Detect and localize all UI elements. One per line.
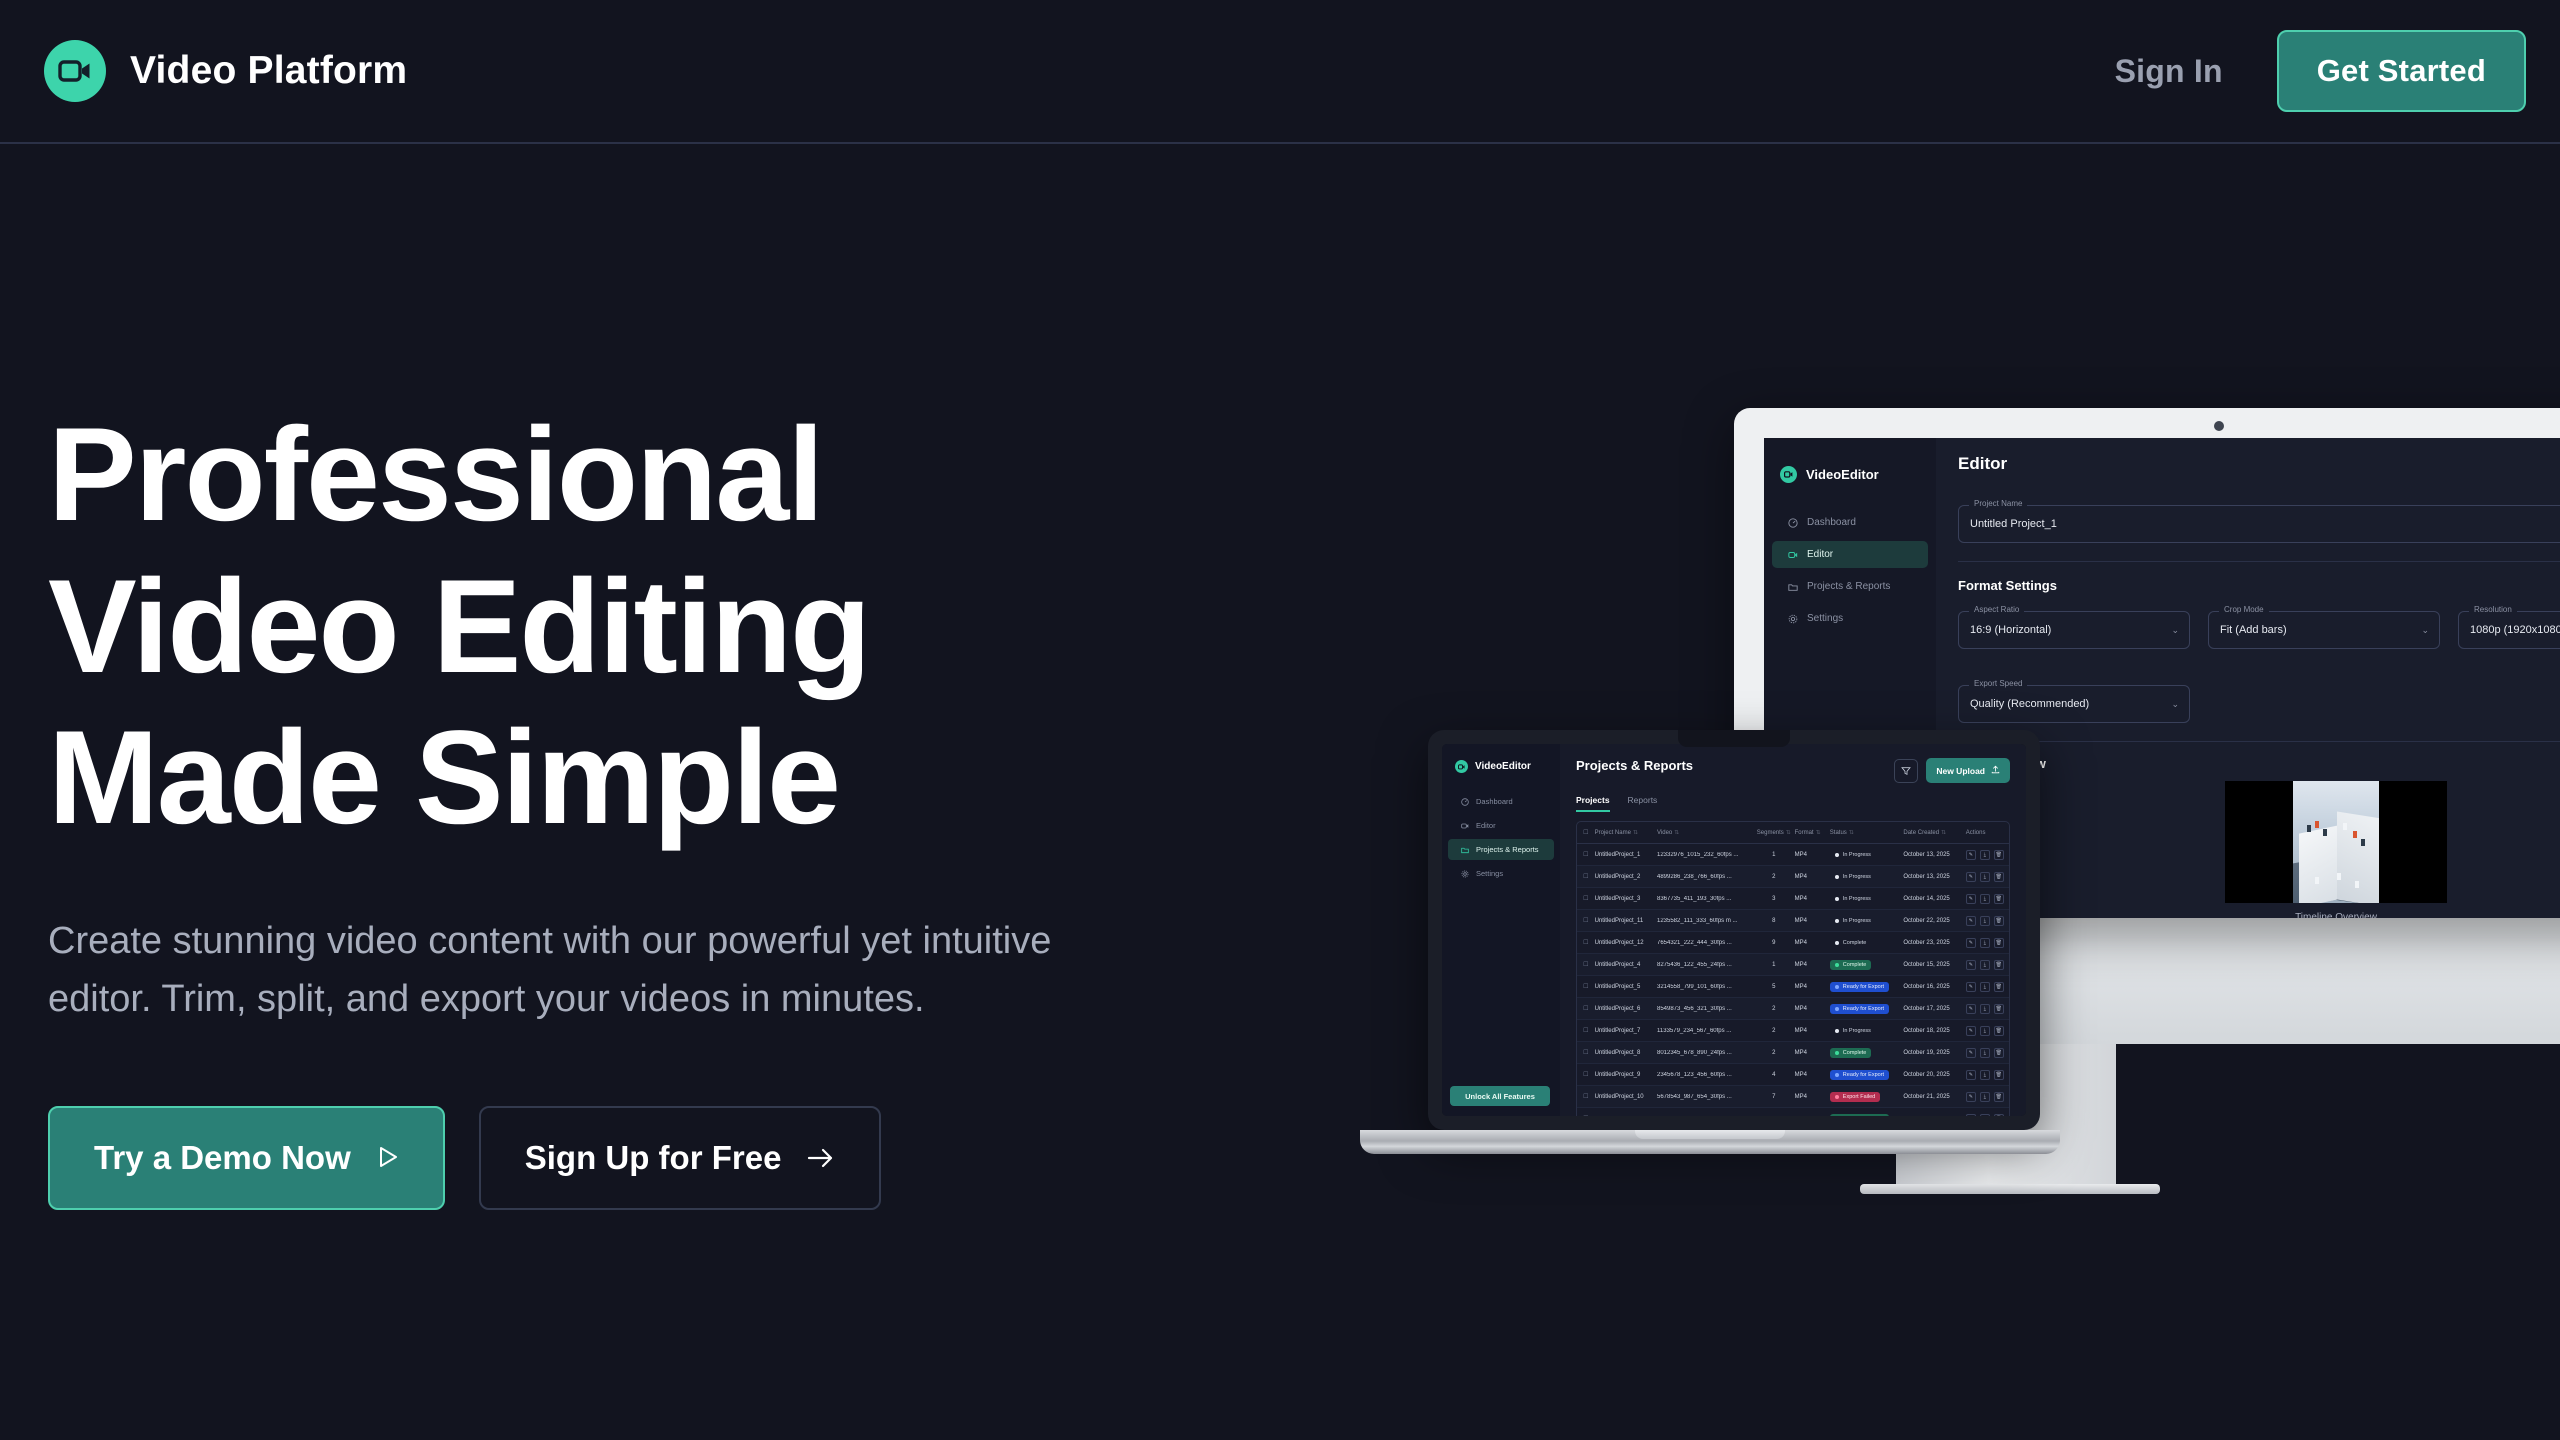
chevron-down-icon: ⌄ xyxy=(2171,699,2179,710)
cell-date-created: October 21, 2025 xyxy=(1903,1094,1965,1100)
brand-name: Video Platform xyxy=(130,49,407,93)
laptop-app-logo[interactable]: VideoEditor xyxy=(1442,760,1560,773)
cell-segments: 10 xyxy=(1753,1116,1795,1117)
delete-icon[interactable]: 🗑 xyxy=(1994,850,2004,860)
project-name-label: Project Name xyxy=(1969,499,2027,508)
sidebar-item-dashboard[interactable]: Dashboard xyxy=(1448,791,1554,812)
cell-actions: ✎⤓🗑 xyxy=(1966,982,2009,992)
cell-segments: 9 xyxy=(1753,940,1795,946)
crop-mode-select[interactable]: Crop Mode Fit (Add bars) ⌄ xyxy=(2208,611,2440,649)
cell-segments: 2 xyxy=(1753,874,1795,880)
edit-icon[interactable]: ✎ xyxy=(1966,1114,1976,1117)
cell-actions: ✎⤓🗑 xyxy=(1966,916,2009,926)
cell-date-created: October 14, 2025 xyxy=(1903,896,1965,902)
sidebar-label: Dashboard xyxy=(1476,797,1513,806)
cell-format: MP4 xyxy=(1795,940,1830,946)
page-title: Professional Video Editing Made Simple xyxy=(48,400,1148,855)
edit-icon[interactable]: ✎ xyxy=(1966,1048,1976,1058)
table-row[interactable]: ☐UntitledProject_38367735_411_193_30fps … xyxy=(1577,888,2009,910)
sidebar-item-projects-reports[interactable]: Projects & Reports xyxy=(1772,573,1928,600)
sort-icon: ⇅ xyxy=(1849,830,1854,836)
cell-video: 2345678_123_456_60fps ... xyxy=(1657,1072,1753,1078)
table-row[interactable]: ☐UntitledProject_53214558_799_101_60fps … xyxy=(1577,976,2009,998)
edit-icon[interactable]: ✎ xyxy=(1966,872,1976,882)
delete-icon[interactable]: 🗑 xyxy=(1994,872,2004,882)
column-date-created[interactable]: Date Created⇅ xyxy=(1903,829,1965,836)
delete-icon[interactable]: 🗑 xyxy=(1994,916,2004,926)
sort-icon: ⇅ xyxy=(1633,830,1638,836)
cell-date-created: October 20, 2025 xyxy=(1903,1072,1965,1078)
cell-format: MP4 xyxy=(1795,896,1830,902)
video-icon xyxy=(1461,822,1469,830)
status-badge: Ready for Export xyxy=(1830,1114,1904,1117)
sign-in-link[interactable]: Sign In xyxy=(2115,53,2223,90)
cell-project-name: UntitledProject_4 xyxy=(1595,962,1657,968)
row-checkbox[interactable]: ☐ xyxy=(1577,851,1595,858)
export-icon[interactable]: ⤓ xyxy=(1980,982,1990,992)
cell-project-name: UntitledProject_11 xyxy=(1595,918,1657,924)
arrow-right-icon xyxy=(807,1139,835,1177)
crop-mode-label: Crop Mode xyxy=(2219,605,2269,614)
cell-segments: 1 xyxy=(1753,852,1795,858)
export-icon[interactable]: ⤓ xyxy=(1980,960,1990,970)
row-checkbox[interactable]: ☐ xyxy=(1577,1115,1595,1116)
laptop-base-notch xyxy=(1635,1130,1785,1139)
delete-icon[interactable]: 🗑 xyxy=(1994,1004,2004,1014)
status-badge: Export Failed xyxy=(1830,1092,1904,1102)
filter-icon[interactable] xyxy=(1894,759,1918,783)
table-row[interactable]: ☐UntitledProject_92345678_123_456_60fps … xyxy=(1577,1064,2009,1086)
edit-icon[interactable]: ✎ xyxy=(1966,1026,1976,1036)
monitor-app-name: VideoEditor xyxy=(1806,467,1879,482)
row-checkbox[interactable]: ☐ xyxy=(1577,1027,1595,1034)
edit-icon[interactable]: ✎ xyxy=(1966,916,1976,926)
device-mockups: VideoEditor Dashboard xyxy=(1360,400,2560,1200)
upload-icon xyxy=(1991,765,2000,776)
cell-video: 8367735_411_193_30fps ... xyxy=(1657,896,1753,902)
status-badge: Complete xyxy=(1830,960,1904,970)
cell-video: 7654321_222_444_30fps ... xyxy=(1657,940,1753,946)
export-icon[interactable]: ⤓ xyxy=(1980,850,1990,860)
cell-actions: ✎⤓🗑 xyxy=(1966,1048,2009,1058)
gauge-icon xyxy=(1461,798,1469,806)
row-checkbox[interactable]: ☐ xyxy=(1577,873,1595,880)
table-row[interactable]: ☐UntitledProject_68549873_456_321_30fps … xyxy=(1577,998,2009,1020)
try-demo-label: Try a Demo Now xyxy=(94,1139,351,1177)
sidebar-item-settings[interactable]: Settings xyxy=(1448,863,1554,884)
gear-icon xyxy=(1788,614,1798,624)
monitor-nav-list: Dashboard Editor Projects xyxy=(1764,509,1936,632)
sidebar-label: Editor xyxy=(1476,821,1496,830)
sort-icon: ⇅ xyxy=(1674,830,1679,836)
cell-format: MP4 xyxy=(1795,1006,1830,1012)
laptop-mockup: VideoEditor Dashboard xyxy=(1360,730,2060,1200)
cell-date-created: October 19, 2025 xyxy=(1903,1050,1965,1056)
export-icon[interactable]: ⤓ xyxy=(1980,1048,1990,1058)
cell-format: MP4 xyxy=(1795,1072,1830,1078)
row-checkbox[interactable]: ☐ xyxy=(1577,1093,1595,1100)
column-video[interactable]: Video⇅ xyxy=(1657,829,1753,836)
edit-icon[interactable]: ✎ xyxy=(1966,1092,1976,1102)
cell-video: 8549873_456_321_30fps ... xyxy=(1657,1006,1753,1012)
sign-up-label: Sign Up for Free xyxy=(525,1139,782,1177)
delete-icon[interactable]: 🗑 xyxy=(1994,1048,2004,1058)
cell-date-created: October 16, 2025 xyxy=(1903,984,1965,990)
cell-format: MP4 xyxy=(1795,874,1830,880)
landing-page: Video Platform Sign In Get Started Profe… xyxy=(0,0,2560,1440)
sidebar-item-editor[interactable]: Editor xyxy=(1448,815,1554,836)
row-checkbox[interactable]: ☐ xyxy=(1577,917,1595,924)
table-row[interactable]: ☐UntitledProject_48275436_122_455_24fps … xyxy=(1577,954,2009,976)
brand-logo[interactable]: Video Platform xyxy=(44,40,407,102)
cell-actions: ✎⤓🗑 xyxy=(1966,872,2009,882)
status-badge: In Progress xyxy=(1830,850,1904,860)
status-badge: Ready for Export xyxy=(1830,1070,1904,1080)
cell-actions: ✎⤓🗑 xyxy=(1966,1114,2009,1117)
cell-segments: 4 xyxy=(1753,1072,1795,1078)
sort-icon: ⇅ xyxy=(1786,830,1791,836)
top-navbar: Video Platform Sign In Get Started xyxy=(0,0,2560,144)
status-badge: Ready for Export xyxy=(1830,1004,1904,1014)
format-settings-heading: Format Settings xyxy=(1958,578,2560,593)
edit-icon[interactable]: ✎ xyxy=(1966,982,1976,992)
cell-video: 8275436_122_455_24fps ... xyxy=(1657,962,1753,968)
cell-date-created: October 22, 2025 xyxy=(1903,918,1965,924)
delete-icon[interactable]: 🗑 xyxy=(1994,982,2004,992)
sidebar-item-dashboard[interactable]: Dashboard xyxy=(1772,509,1928,536)
status-badge: Complete xyxy=(1830,1048,1904,1058)
cell-project-name: UntitledProject_1 xyxy=(1595,852,1657,858)
chevron-down-icon: ⌄ xyxy=(2171,625,2179,636)
delete-icon[interactable]: 🗑 xyxy=(1994,960,2004,970)
cell-project-name: UntitledProject_3 xyxy=(1595,896,1657,902)
cell-video: 1357924_555_666_60fps ... xyxy=(1657,1116,1753,1117)
delete-icon[interactable]: 🗑 xyxy=(1994,1070,2004,1080)
edit-icon[interactable]: ✎ xyxy=(1966,938,1976,948)
column-project-name[interactable]: Project Name⇅ xyxy=(1595,829,1657,836)
cell-project-name: UntitledProject_5 xyxy=(1595,984,1657,990)
cell-format: MP4 xyxy=(1795,918,1830,924)
export-speed-value: Quality (Recommended) xyxy=(1970,698,2089,710)
table-row[interactable]: ☐UntitledProject_24899286_238_766_60fps … xyxy=(1577,866,2009,888)
cell-segments: 3 xyxy=(1753,896,1795,902)
tab-reports[interactable]: Reports xyxy=(1628,795,1658,812)
monitor-app-logo[interactable]: VideoEditor xyxy=(1764,458,1936,483)
cell-video: 8012345_678_890_24fps ... xyxy=(1657,1050,1753,1056)
delete-icon[interactable]: 🗑 xyxy=(1994,938,2004,948)
cell-segments: 8 xyxy=(1753,918,1795,924)
cell-video: 3214558_799_101_60fps ... xyxy=(1657,984,1753,990)
status-badge: In Progress xyxy=(1830,1026,1904,1036)
cell-segments: 2 xyxy=(1753,1006,1795,1012)
tab-projects[interactable]: Projects xyxy=(1576,795,1610,812)
sidebar-label: Editor xyxy=(1807,549,1833,560)
cell-project-name: UntitledProject_2 xyxy=(1595,874,1657,880)
status-badge: In Progress xyxy=(1830,894,1904,904)
export-icon[interactable]: ⤓ xyxy=(1980,916,1990,926)
export-icon[interactable]: ⤓ xyxy=(1980,1070,1990,1080)
sidebar-item-settings[interactable]: Settings xyxy=(1772,605,1928,632)
row-checkbox[interactable]: ☐ xyxy=(1577,1071,1595,1078)
sidebar-item-editor[interactable]: Editor xyxy=(1772,541,1928,568)
row-checkbox[interactable]: ☐ xyxy=(1577,983,1595,990)
cell-project-name: UntitledProject_6 xyxy=(1595,1006,1657,1012)
hero-section: Professional Video Editing Made Simple C… xyxy=(48,400,1148,1210)
export-icon[interactable]: ⤓ xyxy=(1980,1092,1990,1102)
cell-format: MP4 xyxy=(1795,1050,1830,1056)
cell-format: MP4 xyxy=(1795,1094,1830,1100)
video-frame-image xyxy=(2293,781,2379,903)
export-icon[interactable]: ⤓ xyxy=(1980,1114,1990,1117)
sort-icon: ⇅ xyxy=(1941,830,1946,836)
row-checkbox[interactable]: ☐ xyxy=(1577,895,1595,902)
cell-segments: 5 xyxy=(1753,984,1795,990)
video-camera-icon xyxy=(44,40,106,102)
divider xyxy=(1958,561,2560,562)
column-status[interactable]: Status⇅ xyxy=(1830,829,1904,836)
monitor-page-title: Editor xyxy=(1958,454,2007,474)
laptop-app-name: VideoEditor xyxy=(1475,761,1531,772)
crop-mode-value: Fit (Add bars) xyxy=(2220,624,2287,636)
cell-actions: ✎⤓🗑 xyxy=(1966,1004,2009,1014)
cell-date-created: October 23, 2025 xyxy=(1903,940,1965,946)
folder-icon xyxy=(1461,846,1469,854)
table-row[interactable]: ☐UntitledProject_111235582_111_333_60fps… xyxy=(1577,910,2009,932)
cell-project-name: UntitledProject_8 xyxy=(1595,1050,1657,1056)
cell-date-created: October 17, 2025 xyxy=(1903,1006,1965,1012)
project-name-value: Untitled Project_1 xyxy=(1970,518,2057,530)
cell-segments: 7 xyxy=(1753,1094,1795,1100)
aspect-ratio-label: Aspect Ratio xyxy=(1969,605,2024,614)
sidebar-label: Projects & Reports xyxy=(1476,845,1539,854)
edit-icon[interactable]: ✎ xyxy=(1966,894,1976,904)
aspect-ratio-value: 16:9 (Horizontal) xyxy=(1970,624,2051,636)
cell-format: MP4 xyxy=(1795,852,1830,858)
cell-date-created: October 24, 2025 xyxy=(1903,1116,1965,1117)
cell-video: 12332976_1015_232_60fps ... xyxy=(1657,852,1753,858)
export-icon[interactable]: ⤓ xyxy=(1980,1026,1990,1036)
column-actions: Actions xyxy=(1966,830,2009,836)
try-demo-button[interactable]: Try a Demo Now xyxy=(48,1106,445,1210)
cell-project-name: UntitledProject_10 xyxy=(1595,1094,1657,1100)
sidebar-label: Settings xyxy=(1807,613,1843,624)
cell-date-created: October 13, 2025 xyxy=(1903,852,1965,858)
laptop-toolbar: New Upload xyxy=(1894,758,2010,783)
cell-date-created: October 18, 2025 xyxy=(1903,1028,1965,1034)
delete-icon[interactable]: 🗑 xyxy=(1994,1026,2004,1036)
export-icon[interactable]: ⤓ xyxy=(1980,894,1990,904)
column-segments[interactable]: Segments⇅ xyxy=(1753,829,1795,836)
new-upload-button[interactable]: New Upload xyxy=(1926,758,2010,783)
cell-video: 1133579_234_567_60fps ... xyxy=(1657,1028,1753,1034)
cell-actions: ✎⤓🗑 xyxy=(1966,894,2009,904)
new-upload-label: New Upload xyxy=(1936,766,1985,776)
table-row[interactable]: ☐UntitledProject_131357924_555_666_60fps… xyxy=(1577,1108,2009,1116)
cell-segments: 2 xyxy=(1753,1028,1795,1034)
edit-icon[interactable]: ✎ xyxy=(1966,1070,1976,1080)
format-settings-grid: Aspect Ratio 16:9 (Horizontal) ⌄ Crop Mo… xyxy=(1958,593,2560,723)
projects-table: ☐ Project Name⇅ Video⇅ Segments⇅ Format⇅… xyxy=(1576,821,2010,1116)
status-badge: Complete xyxy=(1830,938,1904,948)
cell-actions: ✎⤓🗑 xyxy=(1966,938,2009,948)
laptop-page-title: Projects & Reports xyxy=(1576,758,1693,773)
video-icon xyxy=(1780,466,1797,483)
sidebar-label: Settings xyxy=(1476,869,1503,878)
status-badge: In Progress xyxy=(1830,872,1904,882)
select-all-checkbox[interactable]: ☐ xyxy=(1577,829,1595,836)
laptop-tabs: Projects Reports xyxy=(1576,795,2026,812)
laptop-nav-list: Dashboard Editor xyxy=(1442,791,1560,884)
video-icon xyxy=(1788,550,1798,560)
cell-actions: ✎⤓🗑 xyxy=(1966,960,2009,970)
cell-format: MP4 xyxy=(1795,984,1830,990)
cell-video: 4899286_238_766_60fps ... xyxy=(1657,874,1753,880)
table-row[interactable]: ☐UntitledProject_127654321_222_444_30fps… xyxy=(1577,932,2009,954)
laptop-main: Projects & Reports New Upload xyxy=(1560,744,2026,1116)
laptop-notch xyxy=(1678,730,1790,747)
row-checkbox[interactable]: ☐ xyxy=(1577,1049,1595,1056)
laptop-screen: VideoEditor Dashboard xyxy=(1442,744,2026,1116)
cell-segments: 1 xyxy=(1753,962,1795,968)
export-icon[interactable]: ⤓ xyxy=(1980,1004,1990,1014)
laptop-sidebar: VideoEditor Dashboard xyxy=(1442,744,1560,1116)
laptop-lid: VideoEditor Dashboard xyxy=(1428,730,2040,1130)
folder-icon xyxy=(1788,582,1798,592)
status-badge: Ready for Export xyxy=(1830,982,1904,992)
cell-format: MP4 xyxy=(1795,1116,1830,1117)
delete-icon[interactable]: 🗑 xyxy=(1994,1092,2004,1102)
play-triangle-icon xyxy=(377,1139,399,1177)
cell-actions: ✎⤓🗑 xyxy=(1966,1070,2009,1080)
row-checkbox[interactable]: ☐ xyxy=(1577,939,1595,946)
cell-video: 5678543_987_654_30fps ... xyxy=(1657,1094,1753,1100)
resolution-select[interactable]: Resolution 1080p (1920x1080) ⌄ xyxy=(2458,611,2560,649)
unlock-all-features-button[interactable]: Unlock All Features xyxy=(1450,1086,1550,1106)
chevron-down-icon: ⌄ xyxy=(2421,625,2429,636)
cell-actions: ✎⤓🗑 xyxy=(1966,1092,2009,1102)
status-badge: In Progress xyxy=(1830,916,1904,926)
monitor-topbar: Editor Save Exp xyxy=(1958,454,2560,487)
hero-cta-group: Try a Demo Now Sign Up for Free xyxy=(48,1106,1148,1210)
nav-actions: Sign In Get Started xyxy=(2115,30,2526,112)
table-row[interactable]: ☐UntitledProject_105678543_987_654_30fps… xyxy=(1577,1086,2009,1108)
gear-icon xyxy=(1461,870,1469,878)
export-speed-label: Export Speed xyxy=(1969,679,2027,688)
cell-project-name: UntitledProject_7 xyxy=(1595,1028,1657,1034)
cell-date-created: October 13, 2025 xyxy=(1903,874,1965,880)
cell-project-name: UntitledProject_13 xyxy=(1595,1116,1657,1117)
resolution-label: Resolution xyxy=(2469,605,2517,614)
table-body: ☐UntitledProject_112332976_1015_232_60fp… xyxy=(1577,844,2009,1116)
sign-up-button[interactable]: Sign Up for Free xyxy=(479,1106,882,1210)
video-letterbox xyxy=(2225,781,2447,903)
export-icon[interactable]: ⤓ xyxy=(1980,938,1990,948)
cell-format: MP4 xyxy=(1795,962,1830,968)
sidebar-item-projects-reports[interactable]: Projects & Reports xyxy=(1448,839,1554,860)
row-checkbox[interactable]: ☐ xyxy=(1577,1005,1595,1012)
export-speed-select[interactable]: Export Speed Quality (Recommended) ⌄ xyxy=(1958,685,2190,723)
delete-icon[interactable]: 🗑 xyxy=(1994,1114,2004,1117)
resolution-value: 1080p (1920x1080) xyxy=(2470,624,2560,636)
cell-format: MP4 xyxy=(1795,1028,1830,1034)
cell-actions: ✎⤓🗑 xyxy=(1966,1026,2009,1036)
export-icon[interactable]: ⤓ xyxy=(1980,872,1990,882)
cell-actions: ✎⤓🗑 xyxy=(1966,850,2009,860)
monitor-camera-icon xyxy=(2214,421,2224,431)
video-icon xyxy=(1455,760,1468,773)
laptop-topbar: Projects & Reports New Upload xyxy=(1576,758,2026,783)
table-row[interactable]: ☐UntitledProject_112332976_1015_232_60fp… xyxy=(1577,844,2009,866)
edit-icon[interactable]: ✎ xyxy=(1966,1004,1976,1014)
aspect-ratio-select[interactable]: Aspect Ratio 16:9 (Horizontal) ⌄ xyxy=(1958,611,2190,649)
project-name-field[interactable]: Project Name Untitled Project_1 xyxy=(1958,505,2560,543)
sort-icon: ⇅ xyxy=(1816,830,1821,836)
delete-icon[interactable]: 🗑 xyxy=(1994,894,2004,904)
cell-video: 1235582_111_333_60fps m ... xyxy=(1657,918,1753,924)
sidebar-label: Projects & Reports xyxy=(1807,581,1890,592)
row-checkbox[interactable]: ☐ xyxy=(1577,961,1595,968)
table-row[interactable]: ☐UntitledProject_88012345_678_890_24fps … xyxy=(1577,1042,2009,1064)
get-started-button[interactable]: Get Started xyxy=(2277,30,2526,112)
cell-project-name: UntitledProject_9 xyxy=(1595,1072,1657,1078)
edit-icon[interactable]: ✎ xyxy=(1966,850,1976,860)
column-format[interactable]: Format⇅ xyxy=(1795,829,1830,836)
cell-date-created: October 15, 2025 xyxy=(1903,962,1965,968)
hero-subtitle: Create stunning video content with our p… xyxy=(48,913,1118,1029)
cell-project-name: UntitledProject_12 xyxy=(1595,940,1657,946)
sidebar-label: Dashboard xyxy=(1807,517,1856,528)
table-header-row: ☐ Project Name⇅ Video⇅ Segments⇅ Format⇅… xyxy=(1577,822,2009,844)
edit-icon[interactable]: ✎ xyxy=(1966,960,1976,970)
cell-segments: 2 xyxy=(1753,1050,1795,1056)
table-row[interactable]: ☐UntitledProject_71133579_234_567_60fps … xyxy=(1577,1020,2009,1042)
gauge-icon xyxy=(1788,518,1798,528)
